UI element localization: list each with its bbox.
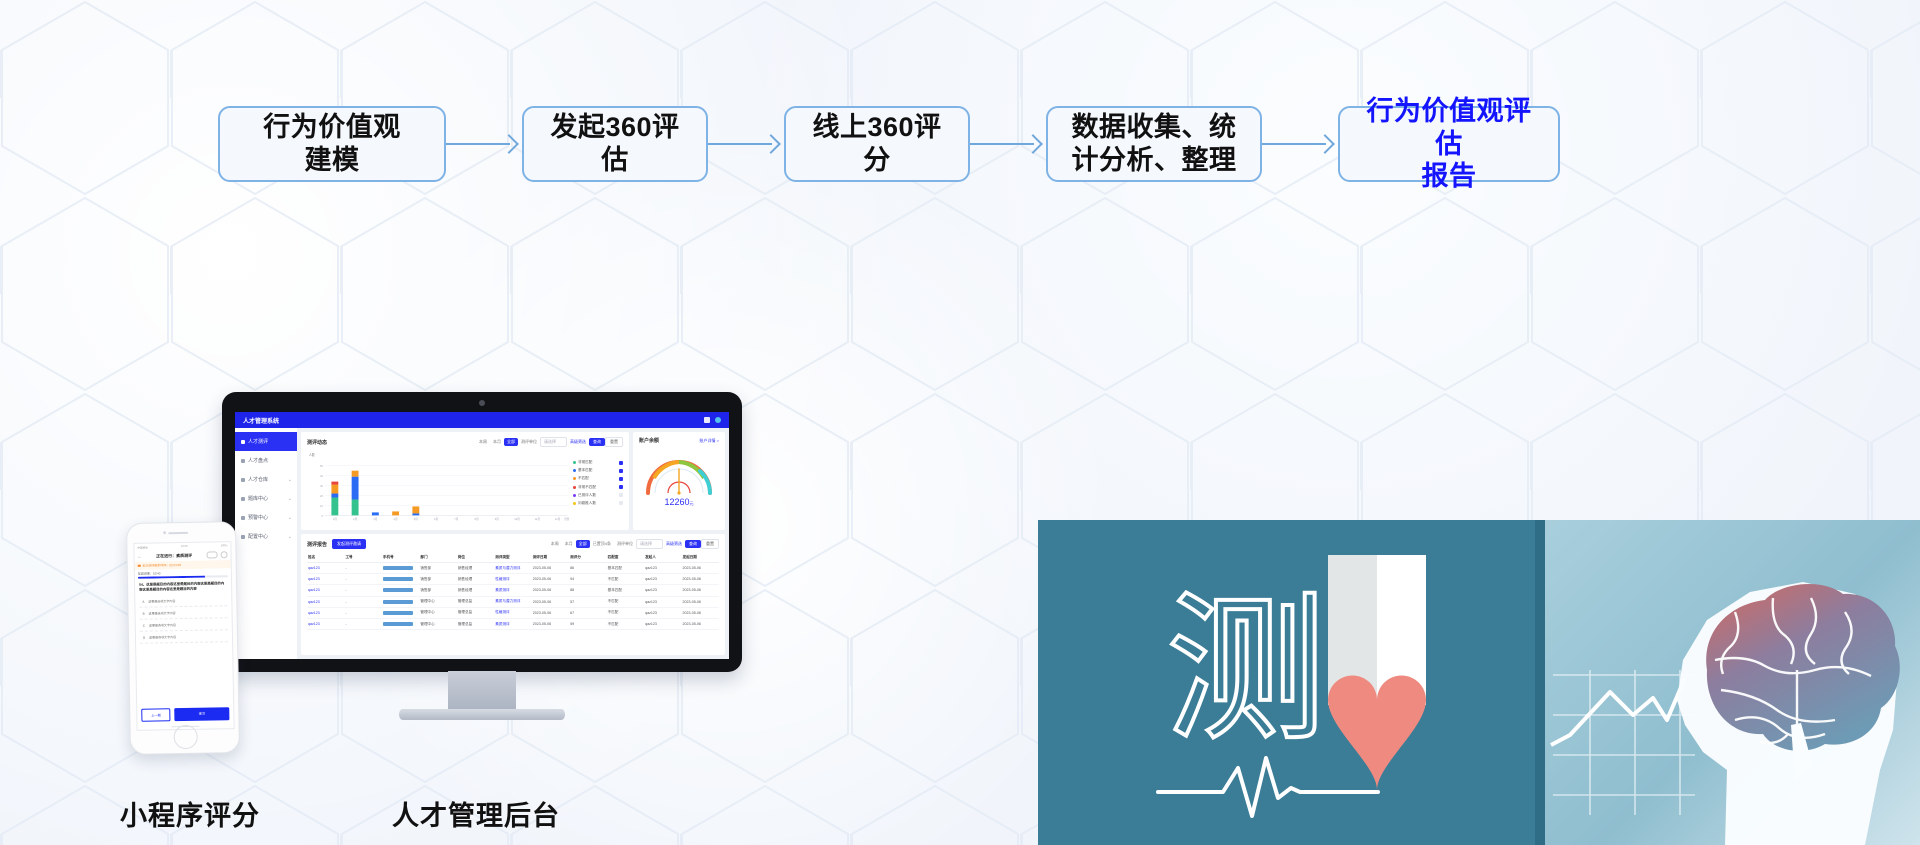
flow-step-1[interactable]: 行为价值观 建模 — [218, 106, 446, 182]
table-cell-4-3: 管理中心 — [419, 607, 456, 618]
legend-label-1: 基本匹配 — [578, 468, 592, 473]
flow-step-4-line1: 数据收集、统 — [1072, 112, 1237, 142]
chart-select-label: 测评单位 — [518, 438, 540, 446]
inventory-icon — [241, 459, 245, 463]
table-col-1: 工号 — [344, 552, 381, 563]
table-advanced-filter[interactable]: 高级筛选 — [663, 540, 685, 548]
phone-screen: 中国移动 10:30 100% ← 正在进行：素质测评 本次测评剩余时间：00:… — [133, 541, 234, 731]
question-text: 54、这里是题目的内容这里是题目的内容这里是题目的内容这里是题目的内容这里是题目… — [135, 577, 231, 596]
chart-search-button[interactable]: 查询 — [589, 438, 605, 446]
table-cell-3-4: 管理总监 — [457, 596, 494, 607]
legend-label-0: 非常匹配 — [578, 460, 592, 465]
timer-text: 本次测评剩余时间：00:24:36 — [142, 563, 181, 568]
table-col-7: 测评分 — [569, 552, 606, 563]
home-button[interactable] — [174, 725, 198, 749]
dashboard-title: 人才管理系统 — [243, 416, 279, 425]
table-select-label: 测评单位 — [614, 540, 636, 548]
chart-advanced-filter[interactable]: 高级筛选 — [567, 438, 589, 446]
svg-text:人数: 人数 — [309, 452, 316, 457]
table-col-9: 发起人 — [644, 552, 681, 563]
balance-value: 12260元 — [664, 497, 693, 507]
legend-item-0[interactable]: 非常匹配 — [573, 460, 623, 465]
submit-button[interactable]: 提交 — [175, 707, 230, 721]
table-cell-2-7: 88 — [569, 585, 606, 596]
arrow-right-icon-3 — [970, 133, 1046, 155]
table-cell-0-10: 2023-05-06 — [682, 563, 719, 574]
back-arrow-icon[interactable]: ← — [138, 554, 142, 559]
option-b-text: 这里是选项文字内容 — [149, 611, 176, 615]
table-cell-4-5[interactable]: 性格测评 — [494, 607, 531, 618]
warehouse-icon — [241, 478, 245, 482]
table-col-10: 发起日期 — [682, 552, 719, 563]
table-cell-2-2 — [382, 585, 419, 596]
svg-text:7月: 7月 — [454, 517, 458, 521]
status-carrier: 中国移动 — [137, 545, 147, 549]
arrow-right-icon-1 — [446, 133, 522, 155]
left-accent-bar — [1535, 520, 1545, 845]
chart-filter-all[interactable]: 全部 — [504, 438, 518, 446]
table-cell-0-5[interactable]: 素质与潜力测评 — [494, 563, 531, 574]
table-cell-4-6: 2023-05-06 — [532, 607, 569, 618]
settings-icon — [241, 535, 245, 539]
sidebar-label-0: 人才测评 — [248, 438, 268, 445]
phone-action-buttons: 上一题 提交 — [137, 707, 233, 722]
table-cell-2-4: 销售经理 — [457, 585, 494, 596]
table-cell-3-0[interactable]: qaz123 — [307, 596, 344, 607]
svg-text:0: 0 — [321, 514, 323, 518]
warning-icon — [241, 516, 245, 520]
stacked-bar-chart: 010203040501月2月3月4月5月6月7月8月9月10月11月12月人数… — [307, 450, 573, 525]
table-cell-5-2 — [382, 618, 419, 629]
table-unit-select[interactable]: 请选择 — [636, 539, 663, 549]
svg-text:1月: 1月 — [333, 517, 337, 521]
table-cell-0-8: 基本匹配 — [607, 563, 644, 574]
legend-checkbox-4[interactable] — [619, 493, 623, 497]
table-cell-1-0[interactable]: qaz123 — [307, 574, 344, 585]
table-cell-0-0[interactable]: qaz123 — [307, 563, 344, 574]
talent-dashboard: 人才管理系统 人才测评 人才盘点 — [235, 412, 729, 659]
legend-item-5[interactable]: 问卷推人数 — [573, 501, 623, 506]
svg-text:11月: 11月 — [535, 517, 541, 521]
process-flow: 行为价值观 建模 发起360评估 线上360评分 数据收集、统 计分析、整理 行… — [0, 96, 1920, 192]
masked-phone — [383, 588, 413, 592]
table-row[interactable]: qaz123-管理中心管理总监素质测评2023-05-0659不匹配qaz123… — [307, 618, 719, 629]
table-header-row: 姓名工号手机号部门岗位测评类型测评日期测评分匹配度发起人发起日期 — [307, 552, 719, 563]
legend-swatch-1 — [573, 469, 576, 472]
option-c-text: 这里是选项文字内容 — [149, 623, 176, 627]
flow-step-5-line1: 行为价值观评估 — [1367, 96, 1532, 159]
option-d-key: D — [143, 635, 145, 639]
table-search-button[interactable]: 查询 — [685, 540, 701, 548]
table-cell-0-2 — [382, 563, 419, 574]
sidebar-label-2: 人才仓库 — [248, 476, 268, 483]
smartphone-mockup: 中国移动 10:30 100% ← 正在进行：素质测评 本次测评剩余时间：00:… — [126, 521, 240, 755]
flow-step-5[interactable]: 行为价值观评估 报告 — [1338, 106, 1560, 182]
table-cell-5-3: 管理中心 — [419, 618, 456, 629]
earpiece-speaker — [168, 532, 188, 535]
flow-step-3[interactable]: 线上360评分 — [784, 106, 970, 182]
table-col-2: 手机号 — [382, 552, 419, 563]
table-cell-5-4: 管理总监 — [457, 618, 494, 629]
chart-reset-button[interactable]: 重置 — [605, 437, 623, 447]
table-cell-2-0[interactable]: qaz123 — [307, 585, 344, 596]
arrow-right-icon-2 — [708, 133, 784, 155]
table-cell-3-3: 管理中心 — [419, 596, 456, 607]
table-cell-4-2 — [382, 607, 419, 618]
table-cell-1-10: 2023-05-06 — [682, 574, 719, 585]
legend-checkbox-1[interactable] — [619, 469, 623, 473]
table-col-5: 测评类型 — [494, 552, 531, 563]
legend-checkbox-0[interactable] — [619, 461, 623, 465]
flow-step-2-label: 发起360评估 — [540, 111, 690, 177]
prev-question-button[interactable]: 上一题 — [141, 708, 171, 722]
flow-step-1-line2: 建模 — [305, 145, 360, 175]
option-b-key: B — [143, 611, 145, 615]
legend-swatch-2 — [573, 477, 576, 480]
svg-text:10月: 10月 — [514, 517, 520, 521]
table-cell-1-2 — [382, 574, 419, 585]
table-cell-5-0[interactable]: qaz123 — [307, 618, 344, 629]
table-cell-1-9: qaz123 — [644, 574, 681, 585]
table-col-8: 匹配度 — [607, 552, 644, 563]
svg-text:30: 30 — [320, 484, 323, 488]
bank-icon — [241, 497, 245, 501]
table-cell-0-9: qaz123 — [644, 563, 681, 574]
table-cell-1-6: 2023-05-06 — [532, 574, 569, 585]
flow-step-4-line2: 计分析、整理 — [1072, 145, 1237, 175]
chevron-down-icon-5: ⌄ — [288, 534, 292, 540]
table-cell-4-4: 管理总监 — [457, 607, 494, 618]
poster-glyph: 测 — [1166, 576, 1326, 763]
svg-text:40: 40 — [320, 474, 323, 478]
table-cell-4-1: - — [344, 607, 381, 618]
send-invite-button[interactable]: 发起测评邀请 — [332, 539, 366, 548]
table-cell-3-10: 2023-05-06 — [682, 596, 719, 607]
table-cell-5-7: 59 — [569, 618, 606, 629]
table-cell-4-10: 2023-05-06 — [682, 607, 719, 618]
chart-legend: 非常匹配 基本匹配 — [573, 450, 623, 525]
legend-label-3: 非常不匹配 — [578, 485, 596, 490]
legend-item-1[interactable]: 基本匹配 — [573, 468, 623, 473]
option-a-text: 这里是选项文字内容 — [148, 599, 175, 603]
table-cell-4-7: 67 — [569, 607, 606, 618]
flow-step-2[interactable]: 发起360评估 — [522, 106, 708, 182]
legend-swatch-0 — [573, 461, 576, 464]
table-cell-5-5[interactable]: 素质测评 — [494, 618, 531, 629]
monitor-screen: 人才管理系统 人才测评 人才盘点 — [235, 412, 729, 659]
svg-text:6月: 6月 — [434, 517, 438, 521]
chart-unit-select[interactable]: 请选择 — [540, 437, 567, 447]
table-cell-2-6: 2023-05-06 — [532, 585, 569, 596]
table-cell-5-6: 2023-05-06 — [532, 618, 569, 629]
table-cell-2-1: - — [344, 585, 381, 596]
svg-text:2月: 2月 — [353, 517, 357, 521]
masked-phone — [383, 622, 413, 626]
assessment-poster-image: 测 — [1038, 520, 1535, 845]
table-row[interactable]: qaz123-销售部销售经理素质与潜力测评2023-05-0686基本匹配qaz… — [307, 563, 719, 574]
table-cell-5-9: qaz123 — [644, 618, 681, 629]
table-cell-0-4: 销售经理 — [457, 563, 494, 574]
desktop-monitor-mockup: 人才管理系统 人才测评 人才盘点 — [222, 392, 742, 712]
table-cell-1-8: 不匹配 — [607, 574, 644, 585]
legend-swatch-4 — [573, 494, 576, 497]
option-a-key: A — [142, 599, 144, 603]
balance-amount: 12260 — [664, 497, 689, 507]
option-d-text: 这里是选项文字内容 — [149, 635, 176, 639]
gauge-card-title: 账户余额 — [639, 437, 659, 444]
svg-text:20: 20 — [320, 494, 323, 498]
option-c-key: C — [143, 623, 145, 627]
table-cell-5-8: 不匹配 — [607, 618, 644, 629]
sidebar-label-5: 配置中心 — [248, 533, 268, 540]
table-cell-3-7: 57 — [569, 596, 606, 607]
table-cell-5-1: - — [344, 618, 381, 629]
table-reset-button[interactable]: 重置 — [701, 539, 719, 549]
target-icon[interactable] — [220, 551, 227, 558]
grid-icon[interactable] — [704, 417, 710, 423]
assessment-table: 姓名工号手机号部门岗位测评类型测评日期测评分匹配度发起人发起日期 qaz123-… — [307, 552, 719, 630]
svg-text:12月: 12月 — [555, 517, 561, 521]
flow-step-4[interactable]: 数据收集、统 计分析、整理 — [1046, 106, 1262, 182]
sidebar-label-4: 预警中心 — [248, 514, 268, 521]
legend-label-2: 不匹配 — [578, 476, 589, 481]
table-row[interactable]: qaz123-管理中心管理总监素质与潜力测评2023-05-0657不匹配qaz… — [307, 596, 719, 607]
svg-text:3月: 3月 — [373, 517, 377, 521]
legend-item-4[interactable]: 已测评人数 — [573, 493, 623, 498]
sidebar-item-assessment[interactable]: 人才测评 — [235, 432, 297, 451]
sidebar-label-3: 题库中心 — [248, 495, 268, 502]
phone-nav-title: 正在进行：素质测评 — [156, 552, 192, 559]
flow-step-5-line2: 报告 — [1422, 161, 1477, 191]
table-cell-1-4: 销售经理 — [457, 574, 494, 585]
table-cell-5-10: 2023-05-06 — [682, 618, 719, 629]
table-cell-1-7: 94 — [569, 574, 606, 585]
chart-card-title: 测评动态 — [307, 439, 327, 446]
table-cell-0-7: 86 — [569, 563, 606, 574]
masked-phone — [383, 577, 413, 581]
chart-filter-week[interactable]: 本周 — [476, 438, 490, 446]
option-d[interactable]: D 这里是选项文字内容 — [140, 630, 228, 644]
table-row[interactable]: qaz123-销售部销售经理素质测评2023-05-0688基本匹配qaz123… — [307, 585, 719, 596]
legend-swatch-5 — [573, 502, 576, 505]
webcam-icon — [479, 400, 485, 406]
account-balance-card: 账户余额 账户详情 > — [633, 432, 725, 530]
table-cell-4-9: qaz123 — [644, 607, 681, 618]
table-row[interactable]: qaz123-销售部销售经理性格测评2023-05-0694不匹配qaz1232… — [307, 574, 719, 585]
monitor-stand-neck — [448, 671, 516, 713]
assessment-report-card: 测评报告 发起测评邀请 本周 本月 全部 已置顶4条 测评单位 请选择 高级筛选 — [301, 534, 725, 655]
table-filter-all[interactable]: 全部 — [576, 540, 590, 548]
table-cell-3-8: 不匹配 — [607, 596, 644, 607]
status-time: 10:30 — [181, 545, 188, 548]
svg-text:10: 10 — [320, 504, 323, 508]
table-filter-week[interactable]: 本周 — [548, 540, 562, 548]
table-cell-0-1: - — [344, 563, 381, 574]
sidebar-label-1: 人才盘点 — [248, 457, 268, 464]
dashboard-sidebar: 人才测评 人才盘点 人才仓库 ⌄ 题库中心 — [235, 428, 297, 659]
sidebar-item-settings[interactable]: 配置中心 ⌄ — [235, 527, 297, 546]
table-cell-2-10: 2023-05-06 — [682, 585, 719, 596]
arrow-right-icon-4 — [1262, 133, 1338, 155]
legend-checkbox-3[interactable] — [619, 485, 623, 489]
table-filter-month[interactable]: 本月 — [562, 540, 576, 548]
table-card-title: 测评报告 — [307, 541, 327, 548]
table-col-4: 岗位 — [457, 552, 494, 563]
sidebar-item-warehouse[interactable]: 人才仓库 ⌄ — [235, 470, 297, 489]
masked-phone — [383, 566, 413, 570]
svg-text:5月: 5月 — [414, 517, 418, 521]
warning-icon — [138, 564, 141, 567]
monitor-bezel: 人才管理系统 人才测评 人才盘点 — [222, 392, 742, 672]
table-pinned-chip[interactable]: 已置顶4条 — [590, 540, 614, 548]
table-row[interactable]: qaz123-管理中心管理总监性格测评2023-05-0667不匹配qaz123… — [307, 607, 719, 618]
table-cell-1-1: - — [344, 574, 381, 585]
legend-checkbox-2[interactable] — [619, 477, 623, 481]
svg-text:9月: 9月 — [495, 517, 499, 521]
chart-filter-month[interactable]: 本月 — [490, 438, 504, 446]
account-detail-link[interactable]: 账户详情 > — [700, 438, 719, 444]
svg-text:8月: 8月 — [475, 517, 479, 521]
legend-label-4: 已测评人数 — [578, 493, 596, 498]
table-cell-2-5[interactable]: 素质测评 — [494, 585, 531, 596]
chevron-down-icon-4: ⌄ — [288, 515, 292, 521]
table-cell-3-1: - — [344, 596, 381, 607]
more-dots-icon[interactable] — [206, 551, 217, 558]
svg-text:50: 50 — [320, 464, 323, 468]
table-cell-3-2 — [382, 596, 419, 607]
masked-phone — [383, 611, 413, 615]
table-cell-3-5[interactable]: 素质与潜力测评 — [494, 596, 531, 607]
table-cell-2-9: qaz123 — [644, 585, 681, 596]
table-col-3: 部门 — [419, 552, 456, 563]
svg-text:月份: 月份 — [564, 517, 570, 521]
table-cell-4-8: 不匹配 — [607, 607, 644, 618]
balance-unit: 元 — [690, 501, 694, 506]
balance-gauge — [642, 451, 716, 495]
table-cell-0-3: 销售部 — [419, 563, 456, 574]
dashboard-titlebar: 人才管理系统 — [235, 412, 729, 428]
brain-head-illustration — [1535, 520, 1920, 845]
table-cell-2-8: 基本匹配 — [607, 585, 644, 596]
sidebar-item-inventory[interactable]: 人才盘点 — [235, 451, 297, 470]
monitor-stand-base — [399, 709, 565, 720]
svg-text:4月: 4月 — [394, 517, 398, 521]
status-battery: 100% — [221, 544, 228, 547]
front-camera-icon — [163, 531, 166, 534]
assessment-trend-card: 测评动态 本周 本月 全部 测评单位 请选择 高级筛选 查询 重置 — [301, 432, 629, 530]
sidebar-item-question-bank[interactable]: 题库中心 ⌄ — [235, 489, 297, 508]
caption-admin-console: 人才管理后台 — [392, 794, 560, 833]
avatar-icon[interactable] — [715, 417, 721, 423]
table-cell-3-6: 2023-05-06 — [532, 596, 569, 607]
legend-label-5: 问卷推人数 — [578, 501, 596, 506]
table-col-0: 姓名 — [307, 552, 344, 563]
table-cell-4-0[interactable]: qaz123 — [307, 607, 344, 618]
table-cell-0-6: 2023-05-06 — [532, 563, 569, 574]
chevron-down-icon-3: ⌄ — [288, 496, 292, 502]
table-cell-1-3: 销售部 — [419, 574, 456, 585]
legend-checkbox-5[interactable] — [619, 501, 623, 505]
table-cell-3-9: qaz123 — [644, 596, 681, 607]
sidebar-item-alerts[interactable]: 预警中心 ⌄ — [235, 508, 297, 527]
assessment-icon — [241, 440, 245, 444]
legend-item-3[interactable]: 非常不匹配 — [573, 485, 623, 490]
table-col-6: 测评日期 — [532, 552, 569, 563]
table-cell-1-5[interactable]: 性格测评 — [494, 574, 531, 585]
chevron-down-icon-2: ⌄ — [288, 477, 292, 483]
flow-step-3-label: 线上360评分 — [802, 111, 952, 177]
masked-phone — [383, 600, 413, 604]
legend-item-2[interactable]: 不匹配 — [573, 476, 623, 481]
table-cell-2-3: 销售部 — [419, 585, 456, 596]
legend-swatch-3 — [573, 486, 576, 489]
flow-step-1-line1: 行为价值观 — [263, 112, 401, 142]
caption-mini-program: 小程序评分 — [120, 794, 260, 833]
